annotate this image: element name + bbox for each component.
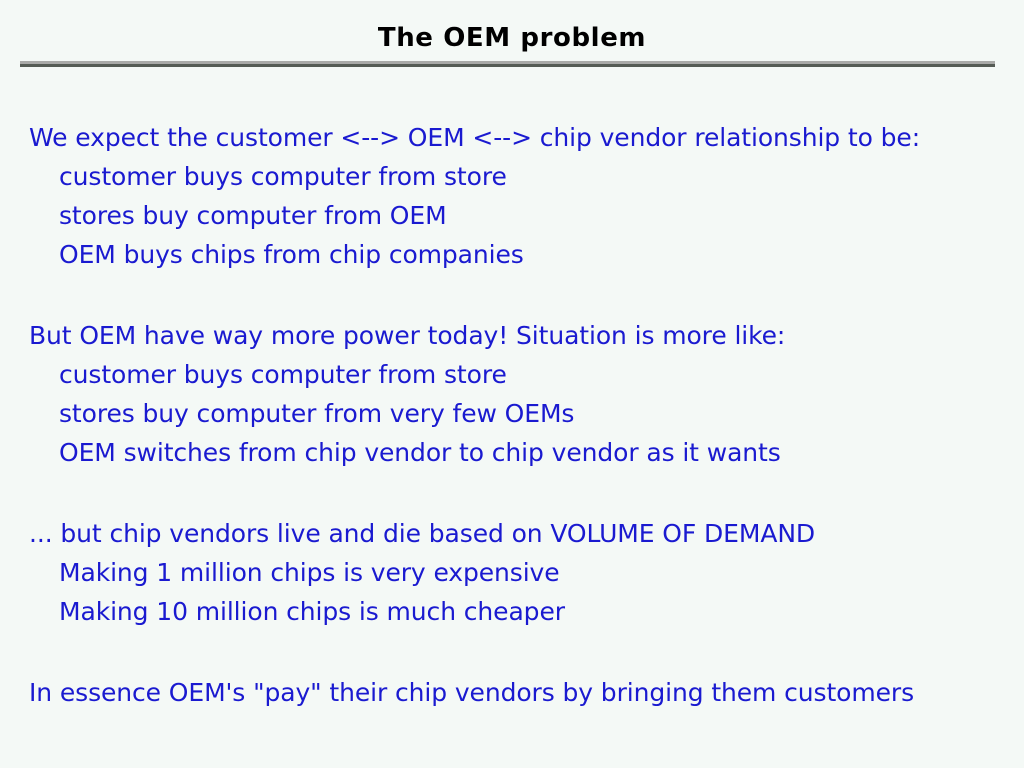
- content-block: We expect the customer <--> OEM <--> chi…: [0, 118, 1024, 274]
- content-block: But OEM have way more power today! Situa…: [0, 316, 1024, 472]
- block-heading: In essence OEM's "pay" their chip vendor…: [29, 673, 1024, 712]
- content-block: In essence OEM's "pay" their chip vendor…: [0, 673, 1024, 712]
- content-block: ... but chip vendors live and die based …: [0, 514, 1024, 631]
- block-item: customer buys computer from store: [59, 355, 1024, 394]
- block-item: Making 10 million chips is much cheaper: [59, 592, 1024, 631]
- block-item: OEM switches from chip vendor to chip ve…: [59, 433, 1024, 472]
- title-divider-rule: [20, 61, 995, 67]
- block-heading: We expect the customer <--> OEM <--> chi…: [29, 118, 1024, 157]
- page-title: The OEM problem: [0, 22, 1024, 54]
- slide-body: We expect the customer <--> OEM <--> chi…: [0, 118, 1024, 712]
- block-item: Making 1 million chips is very expensive: [59, 553, 1024, 592]
- block-heading: But OEM have way more power today! Situa…: [29, 316, 1024, 355]
- block-item: stores buy computer from OEM: [59, 196, 1024, 235]
- block-item: customer buys computer from store: [59, 157, 1024, 196]
- block-item: OEM buys chips from chip companies: [59, 235, 1024, 274]
- block-item: stores buy computer from very few OEMs: [59, 394, 1024, 433]
- presentation-slide: The OEM problem We expect the customer <…: [0, 0, 1024, 768]
- block-heading: ... but chip vendors live and die based …: [29, 514, 1024, 553]
